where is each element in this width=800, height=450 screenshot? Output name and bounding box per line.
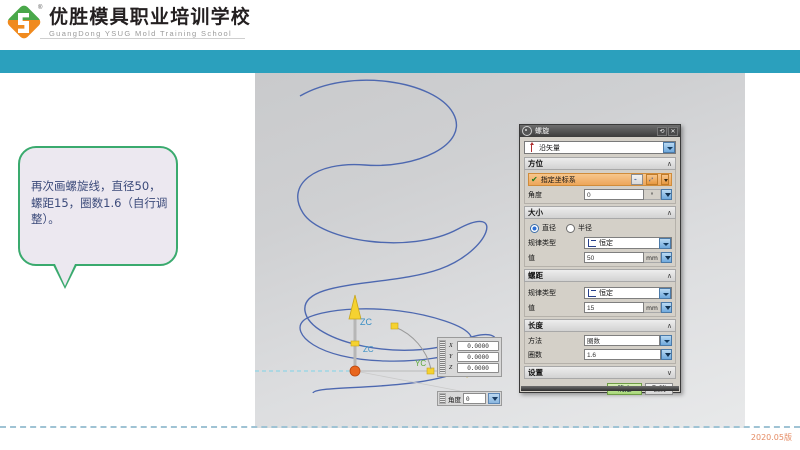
dialog-resize-grip[interactable] [521, 386, 679, 391]
chevron-up-icon[interactable]: ∧ [667, 209, 672, 217]
radio-diameter[interactable]: 直径 [530, 223, 556, 233]
brand-logo: ® 优胜模具职业培训学校 GuangDong YSUG Mold Trainin… [8, 6, 251, 40]
registered-mark: ® [38, 5, 42, 11]
page-header: ® 优胜模具职业培训学校 GuangDong YSUG Mold Trainin… [0, 0, 800, 42]
origin-marker[interactable] [350, 366, 360, 376]
length-method-value[interactable]: 圈数 [584, 335, 660, 346]
logo-title-cn: 优胜模具职业培训学校 [49, 8, 251, 27]
coord-input-y[interactable]: 0.0000 [457, 352, 499, 362]
chevron-down-icon[interactable] [659, 288, 671, 299]
radio-radius-label: 半径 [578, 223, 592, 233]
section-title-length: 长度 [528, 320, 543, 331]
coord-label-y: Y [449, 354, 455, 360]
radio-diameter-icon[interactable] [530, 224, 539, 233]
pitch-law-type-label: 规律类型 [528, 288, 584, 298]
section-title-pitch: 螺距 [528, 270, 543, 281]
coord-label-z: Z [449, 365, 455, 371]
section-body-pitch: 规律类型 恒定 值 15 mm [524, 282, 676, 317]
orientation-angle-label: 角度 [528, 190, 584, 200]
logo-title-en: GuangDong YSUG Mold Training School [49, 30, 251, 38]
section-header-size[interactable]: 大小 ∧ [524, 206, 676, 219]
close-icon[interactable]: ✕ [668, 127, 678, 136]
pitch-law-type-value: 恒定 [599, 288, 659, 298]
specify-csys-label: 指定坐标系 [541, 175, 628, 185]
length-turns-input[interactable]: 1.6 [584, 349, 661, 360]
section-header-pitch[interactable]: 螺距 ∧ [524, 269, 676, 282]
angle-spinner-icon[interactable] [488, 393, 500, 404]
callout-tail [55, 264, 75, 286]
angle-widget-label: 角度 [448, 394, 461, 404]
pitch-law-type-combo[interactable]: 恒定 [584, 287, 672, 299]
section-body-size: 直径 半径 规律类型 恒定 值 50 mm [524, 219, 676, 267]
radio-radius[interactable]: 半径 [566, 223, 592, 233]
vector-icon [527, 142, 537, 153]
coord-row-z[interactable]: Z 0.0000 [449, 363, 499, 373]
section-title-orientation: 方位 [528, 158, 543, 169]
restore-icon[interactable]: ⟲ [657, 127, 667, 136]
section-header-length[interactable]: 长度 ∧ [524, 319, 676, 332]
chevron-down-icon[interactable] [663, 142, 675, 153]
size-value-label: 值 [528, 253, 584, 263]
coord-input-z[interactable]: 0.0000 [457, 363, 499, 373]
chevron-up-icon[interactable]: ∧ [667, 160, 672, 168]
callout-text: 再次画螺旋线，直径50，螺距15，圈数1.6（自行调整）。 [31, 178, 171, 228]
angle-widget[interactable]: 角度 0 [437, 391, 502, 406]
yc-label-inner: YC [415, 359, 426, 368]
radio-diameter-label: 直径 [542, 223, 556, 233]
csys-constructor-icon[interactable]: ⤢ [646, 174, 658, 185]
section-header-settings[interactable]: 设置 ∨ [524, 366, 676, 379]
radio-radius-icon[interactable] [566, 224, 575, 233]
angle-widget-input[interactable]: 0 [463, 393, 486, 404]
size-value-row[interactable]: 值 50 mm [528, 252, 672, 263]
version-label: 2020.05版 [751, 432, 792, 443]
pitch-value-spinner-icon[interactable] [661, 302, 672, 313]
chevron-down-icon[interactable] [660, 335, 672, 346]
specify-csys-row[interactable]: ✔ 指定坐标系 ⌁ ⤢ [528, 173, 672, 186]
section-title-settings: 设置 [528, 367, 543, 378]
pitch-value-unit: mm [644, 302, 661, 313]
chevron-up-icon[interactable]: ∧ [667, 322, 672, 330]
helix-type-combo[interactable]: 沿矢量 [524, 141, 676, 154]
orientation-angle-spinner-icon[interactable] [661, 189, 672, 200]
size-value-spinner-icon[interactable] [661, 252, 672, 263]
zc-label-lower: ZC [363, 345, 374, 354]
orientation-angle-row[interactable]: 角度 0 ° [528, 189, 672, 200]
csys-dialog-icon[interactable]: ⌁ [631, 174, 643, 185]
length-turns-label: 圈数 [528, 350, 584, 360]
section-body-length: 方法 圈数 圈数 1.6 [524, 332, 676, 364]
pitch-value-input[interactable]: 15 [584, 302, 644, 313]
pitch-value-label: 值 [528, 303, 584, 313]
section-body-orientation: ✔ 指定坐标系 ⌁ ⤢ 角度 0 ° [524, 170, 676, 204]
drag-grip-icon[interactable] [439, 340, 446, 374]
header-divider [40, 38, 245, 39]
check-icon: ✔ [531, 176, 538, 184]
helix-type-value: 沿矢量 [539, 143, 663, 153]
footer-divider [0, 426, 800, 428]
logo-diamond-icon: ® [8, 6, 42, 40]
rotation-handle[interactable] [391, 323, 398, 329]
chevron-down-icon[interactable] [659, 238, 671, 249]
orientation-angle-unit: ° [644, 189, 661, 200]
dialog-app-icon [522, 126, 532, 136]
coordinate-readout[interactable]: X 0.0000 Y 0.0000 Z 0.0000 [437, 337, 502, 377]
section-title-size: 大小 [528, 207, 543, 218]
size-law-type-row[interactable]: 规律类型 恒定 [528, 237, 672, 249]
size-value-input[interactable]: 50 [584, 252, 644, 263]
pitch-law-type-row[interactable]: 规律类型 恒定 [528, 287, 672, 299]
header-accent-band [0, 50, 800, 73]
size-mode-radios[interactable]: 直径 半径 [528, 222, 672, 235]
law-constant-icon [587, 288, 597, 298]
orientation-angle-input[interactable]: 0 [584, 189, 644, 200]
coord-row-x[interactable]: X 0.0000 [449, 341, 499, 351]
length-method-label: 方法 [528, 336, 584, 346]
pitch-value-row[interactable]: 值 15 mm [528, 302, 672, 313]
zc-axis-handle[interactable] [351, 341, 359, 346]
length-turns-spinner-icon[interactable] [661, 349, 672, 360]
csys-dropdown-icon[interactable] [661, 174, 669, 185]
dialog-title: 螺旋 [535, 126, 656, 136]
section-header-orientation[interactable]: 方位 ∧ [524, 157, 676, 170]
coord-label-x: X [449, 343, 455, 349]
chevron-down-icon[interactable]: ∨ [667, 369, 672, 377]
dialog-titlebar[interactable]: 螺旋 ⟲ ✕ [520, 125, 680, 137]
instruction-callout: 再次画螺旋线，直径50，螺距15，圈数1.6（自行调整）。 [18, 146, 178, 266]
size-law-type-combo[interactable]: 恒定 [584, 237, 672, 249]
size-law-type-label: 规律类型 [528, 238, 584, 248]
size-law-type-value: 恒定 [599, 238, 659, 248]
coord-row-y[interactable]: Y 0.0000 [449, 352, 499, 362]
chevron-up-icon[interactable]: ∧ [667, 272, 672, 280]
helix-dialog[interactable]: 螺旋 ⟲ ✕ 沿矢量 方位 ∧ ✔ 指定坐标系 ⌁ ⤢ 角度 0 [519, 124, 681, 393]
length-method-row[interactable]: 方法 圈数 [528, 335, 672, 346]
coord-input-x[interactable]: 0.0000 [457, 341, 499, 351]
size-value-unit: mm [644, 252, 661, 263]
law-constant-icon [587, 238, 597, 248]
drag-grip-icon[interactable] [439, 393, 446, 404]
zc-axis-arrow [349, 295, 361, 319]
zc-label-upper: ZC [360, 317, 372, 327]
length-turns-row[interactable]: 圈数 1.6 [528, 349, 672, 360]
